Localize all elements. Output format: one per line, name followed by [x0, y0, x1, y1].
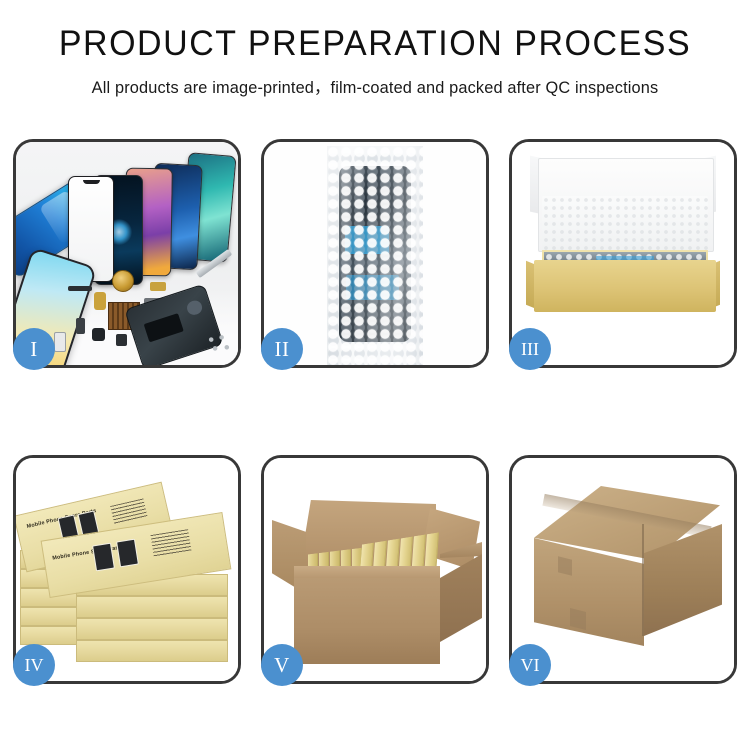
gold-bracket-part: [150, 282, 166, 291]
page-subtitle: All products are image-printed，film-coat…: [4, 74, 747, 98]
stack-box-fr-3: [76, 618, 228, 640]
sealed-carton-tape-bottom: [570, 608, 586, 630]
stack-lid-phone-front-2: [116, 539, 139, 568]
process-step-4[interactable]: Mobile Phone Spare Parts Mobile Phone Sp…: [13, 455, 241, 684]
step-4-badge: IV: [13, 644, 55, 686]
stack-lid-phone-front-1: [92, 543, 115, 572]
step-6-badge: VI: [509, 644, 551, 686]
sealed-carton-tape-top: [558, 556, 572, 575]
page-title: PRODUCT PREPARATION PROCESS: [11, 26, 739, 63]
step-3-image: [512, 142, 734, 365]
step-4-image: Mobile Phone Spare Parts Mobile Phone Sp…: [16, 458, 238, 681]
stack-box-fr-2: [76, 596, 228, 618]
stack-box-fr-4: [76, 640, 228, 662]
flex-cable-part: [68, 286, 92, 291]
process-step-1[interactable]: I: [13, 139, 241, 368]
process-step-5[interactable]: V: [261, 455, 489, 684]
step-2-image: [264, 142, 486, 365]
process-step-6[interactable]: VI: [509, 455, 737, 684]
sim-tray-part: [54, 332, 66, 352]
small-module-part: [116, 334, 127, 346]
carton-front-panel: [294, 578, 440, 664]
process-step-3[interactable]: III: [509, 139, 737, 368]
kraft-box-body: [534, 260, 716, 312]
sealed-carton-corner-edge: [642, 524, 644, 636]
step-6-image: [512, 458, 734, 681]
step-3-badge: III: [509, 328, 551, 370]
button-flex-part: [76, 318, 85, 334]
page-header: PRODUCT PREPARATION PROCESS All products…: [0, 0, 750, 98]
step-1-badge: I: [13, 328, 55, 370]
plastic-gloss: [327, 146, 423, 365]
step-1-image: [16, 142, 238, 365]
camera-module-part: [92, 328, 105, 341]
step-5-badge: V: [261, 644, 303, 686]
box-stack: Mobile Phone Spare Parts Mobile Phone Sp…: [16, 458, 238, 681]
process-step-grid: I II III: [13, 139, 737, 684]
screws-part: [206, 333, 232, 355]
speaker-coil-part: [112, 270, 134, 292]
process-step-2[interactable]: II: [261, 139, 489, 368]
connector-part: [94, 292, 106, 310]
step-2-badge: II: [261, 328, 303, 370]
step-5-image: [264, 458, 486, 681]
